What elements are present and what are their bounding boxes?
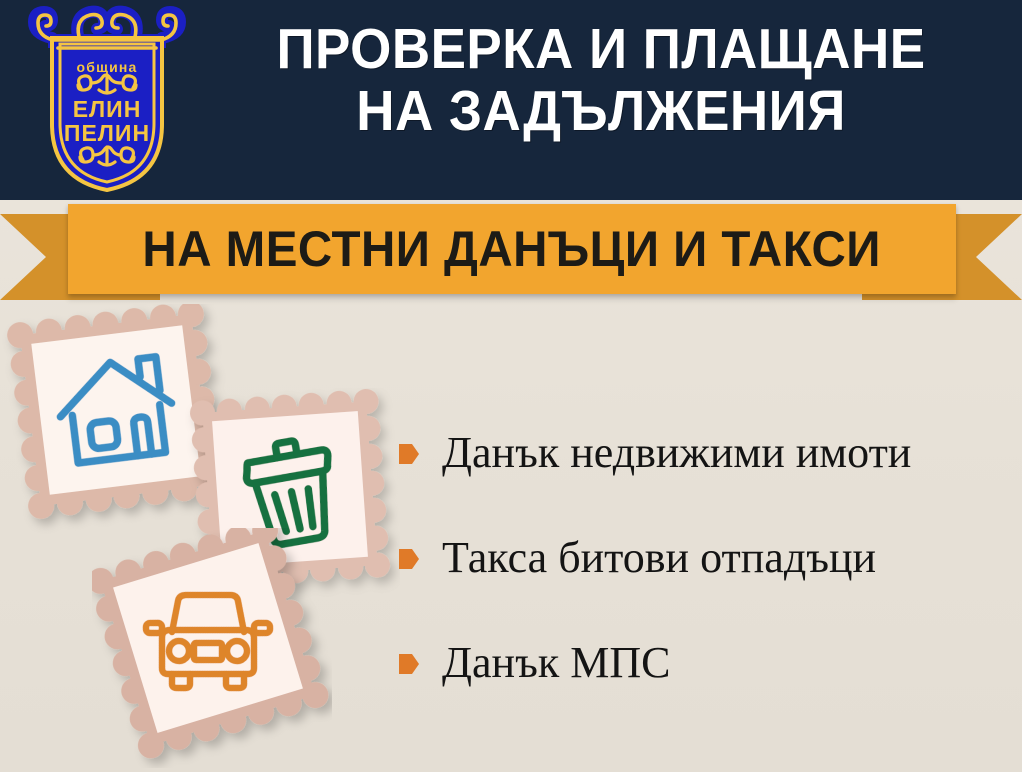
ribbon-main-band: НА МЕСТНИ ДАНЪЦИ И ТАКСИ <box>68 204 956 294</box>
poster-title: ПРОВЕРКА И ПЛАЩАНЕ НА ЗАДЪЛЖЕНИЯ <box>196 18 1006 142</box>
title-line-1: ПРОВЕРКА И ПЛАЩАНЕ <box>224 18 977 80</box>
title-line-2: НА ЗАДЪЛЖЕНИЯ <box>224 80 977 142</box>
list-item: Такса битови отпадъци <box>398 530 1008 586</box>
bullet-arrow-icon <box>398 651 420 677</box>
stamp-cards-group <box>0 300 420 772</box>
list-item: Данък МПС <box>398 635 1008 691</box>
ribbon-label: НА МЕСТНИ ДАНЪЦИ И ТАКСИ <box>143 224 881 274</box>
coat-of-arms: община ЕЛИН ПЕЛИН <box>22 4 192 196</box>
tax-type-list: Данък недвижими имоти Такса битови отпад… <box>398 425 1008 740</box>
bullet-arrow-icon <box>398 546 420 572</box>
svg-text:община: община <box>76 59 137 75</box>
poster-canvas: община ЕЛИН ПЕЛИН <box>0 0 1022 772</box>
list-item-label: Данък недвижими имоти <box>442 428 911 478</box>
stamp-card-car <box>92 528 332 768</box>
svg-text:ЕЛИН: ЕЛИН <box>73 96 142 122</box>
list-item: Данък недвижими имоти <box>398 425 1008 481</box>
svg-text:ПЕЛИН: ПЕЛИН <box>64 120 150 146</box>
list-item-label: Данък МПС <box>442 638 670 688</box>
header-bar: община ЕЛИН ПЕЛИН <box>0 0 1022 200</box>
subtitle-ribbon: НА МЕСТНИ ДАНЪЦИ И ТАКСИ <box>0 200 1022 308</box>
bullet-arrow-icon <box>398 441 420 467</box>
list-item-label: Такса битови отпадъци <box>442 533 876 583</box>
